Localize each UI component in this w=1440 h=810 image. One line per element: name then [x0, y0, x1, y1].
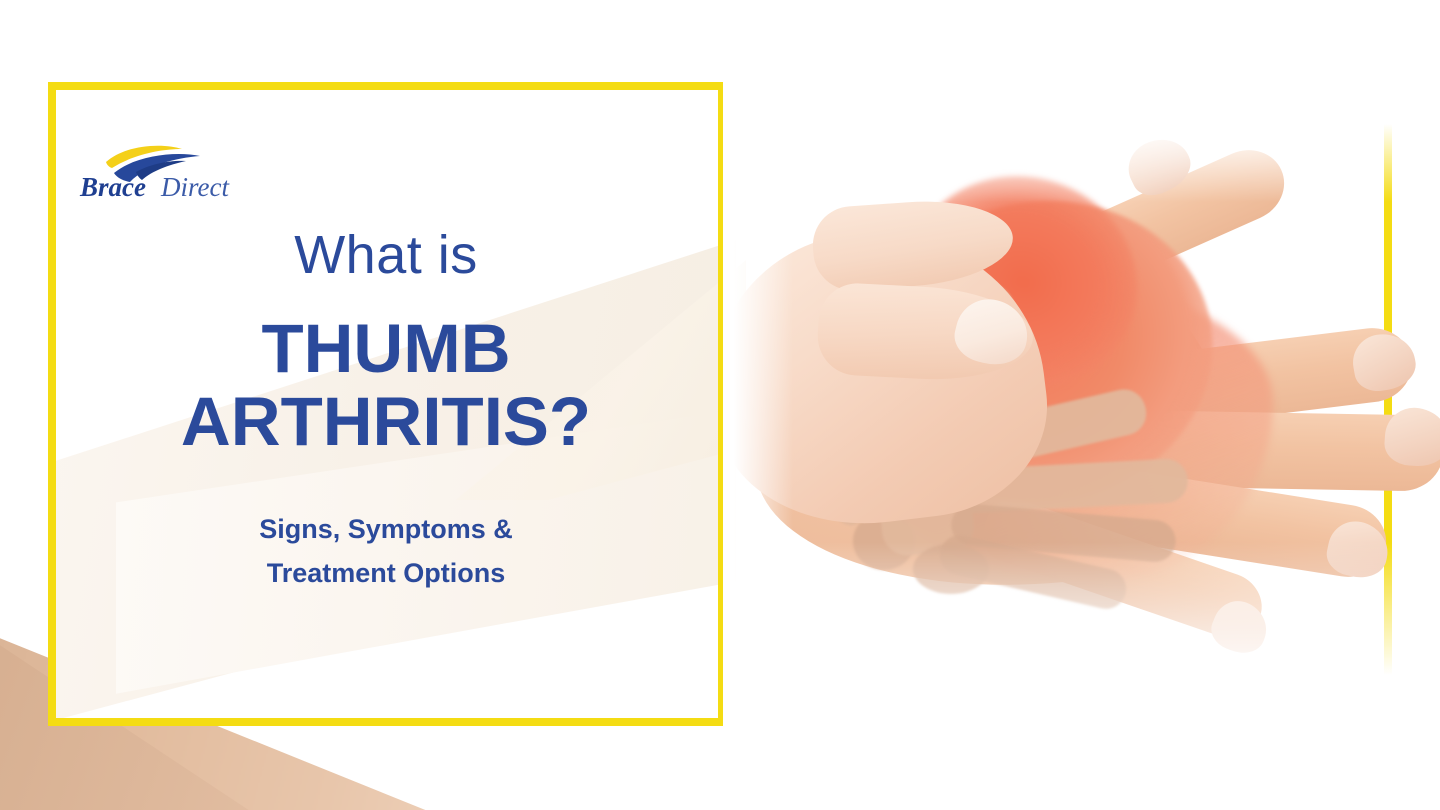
brace-direct-logo[interactable]: Brace Direct: [78, 140, 238, 202]
vertical-divider: [718, 82, 723, 726]
subtitle-block: Signs, Symptoms & Treatment Options: [56, 508, 716, 595]
slide-canvas: Brace Direct What is THUMB ARTHRITIS? Si…: [0, 0, 1440, 810]
page-title-line-2: ARTHRITIS?: [56, 385, 716, 458]
subtitle-line-1: Signs, Symptoms &: [56, 508, 716, 552]
subtitle-line-2: Treatment Options: [56, 552, 716, 596]
fingernail-middle: [1383, 406, 1440, 468]
logo-word-brace: Brace: [79, 172, 146, 202]
logo-word-direct: Direct: [160, 172, 230, 202]
headline-eyebrow: What is: [56, 226, 716, 284]
page-title-line-1: THUMB: [261, 310, 510, 387]
headline-block: What is THUMB ARTHRITIS?: [56, 226, 716, 459]
page-title: THUMB ARTHRITIS?: [56, 312, 716, 458]
